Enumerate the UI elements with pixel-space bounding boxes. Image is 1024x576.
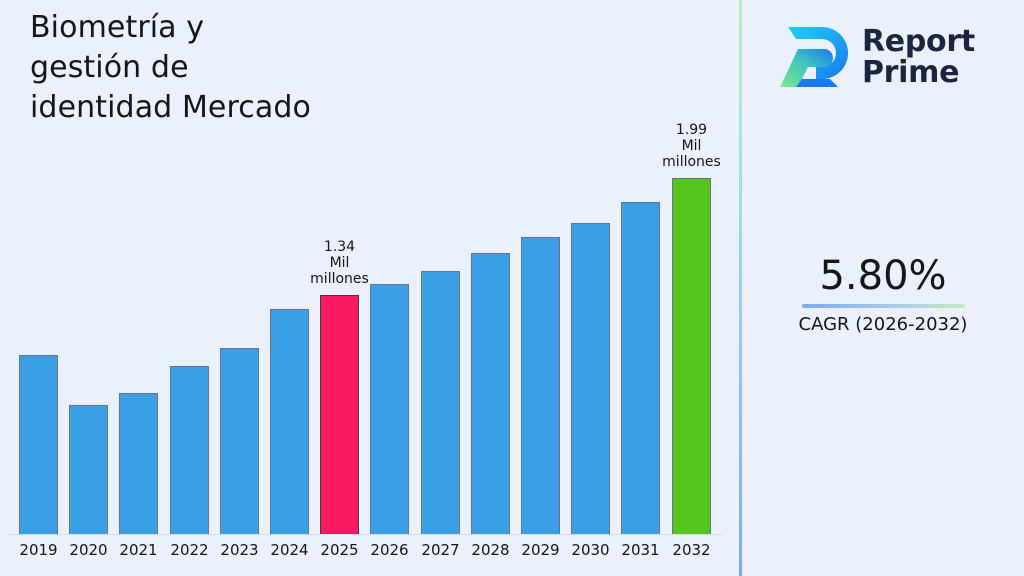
report-prime-logo-icon: [772, 21, 852, 93]
cagr-caption: CAGR (2026-2032): [742, 314, 1024, 336]
plot-area: 1.34 Mil millones1.99 Mil millones 20192…: [0, 0, 740, 536]
brand-panel: Report Prime 5.80% CAGR (2026-2032): [742, 0, 1024, 576]
tick-label-2032: 2032: [662, 541, 722, 559]
bar-2029: [521, 237, 560, 534]
bar-2025: [320, 295, 359, 534]
cagr-value: 5.80%: [742, 252, 1024, 300]
cagr-divider-rule: [802, 304, 965, 308]
bar-2032: [672, 178, 711, 534]
bar-2027: [421, 271, 460, 534]
brand-logo: Report Prime: [772, 14, 1012, 100]
bar-value-label-2025: 1.34 Mil millones: [295, 239, 385, 287]
brand-wordmark: Report Prime: [862, 26, 975, 88]
bar-2023: [220, 348, 259, 534]
bar-value-label-2032: 1.99 Mil millones: [647, 122, 737, 170]
bar-2031: [621, 202, 660, 534]
chart-panel: Biometría y gestión de identidad Mercado…: [0, 0, 740, 576]
bar-2026: [370, 284, 409, 534]
bar-2028: [471, 253, 510, 534]
bar-2030: [571, 223, 610, 534]
bar-2024: [270, 309, 309, 534]
bar-2019: [19, 355, 58, 534]
bar-2021: [119, 393, 158, 534]
x-axis-line: [8, 534, 722, 535]
bar-2022: [170, 366, 209, 534]
bar-2020: [69, 405, 108, 534]
cagr-block: 5.80% CAGR (2026-2032): [742, 252, 1024, 336]
chart-screenshot: Biometría y gestión de identidad Mercado…: [0, 0, 1024, 576]
